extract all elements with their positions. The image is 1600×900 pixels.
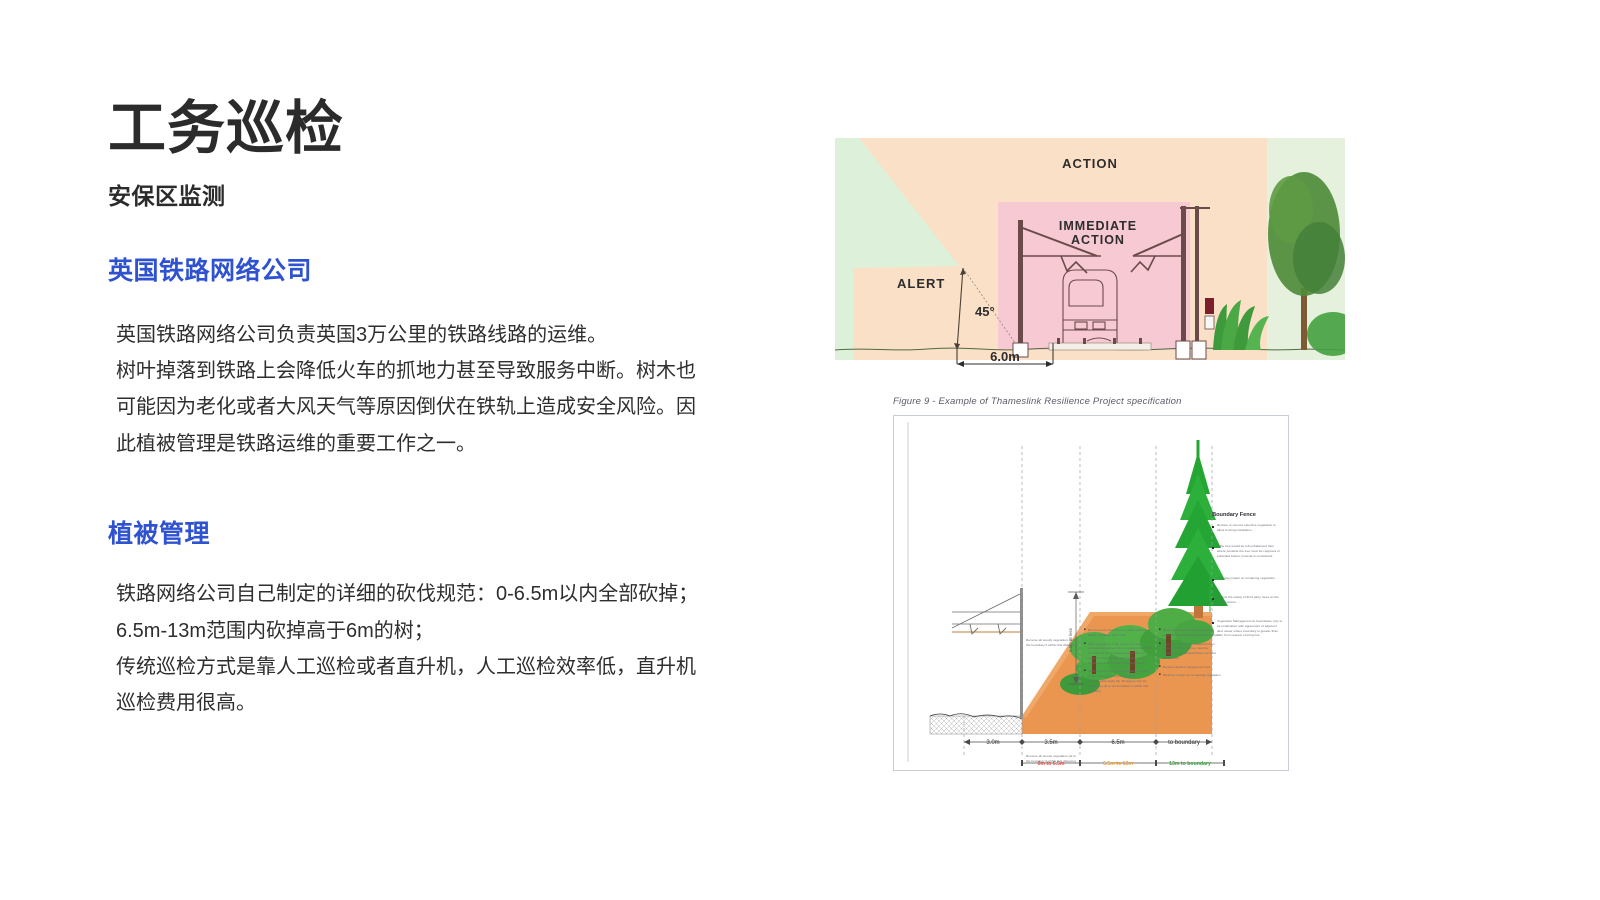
page-title: 工务巡检 <box>108 96 748 163</box>
paragraph-line: 传统巡检方式是靠人工巡检或者直升机，人工巡检效率低，直升机 <box>116 649 748 685</box>
paragraph-line: 此植被管理是铁路运维的重要工作之一。 <box>116 426 748 462</box>
figure-column: 45° <box>835 138 1355 771</box>
annotation-6-5m-bullet-3: (where there is a risk of vegetation gro… <box>1088 669 1152 693</box>
annotation-boundary-bullet-3: Remove dead or dangerous trees <box>1163 665 1211 670</box>
bullet-icon: ■ <box>1159 628 1161 638</box>
text-column: 工务巡检 安保区监测 英国铁路网络公司 英国铁路网络公司负责英国3万公里的铁路线… <box>108 96 748 722</box>
annotation-column-6-5m: ■ Remove trees that have a mature averag… <box>1084 628 1152 693</box>
section-heading-vegetation-management: 植被管理 <box>108 514 748 550</box>
paragraph-line: 树叶掉落到铁路上会降低火车的抓地力甚至导致服务中断。树木也 <box>116 353 748 389</box>
panel-bullet-3: Minimise impact on remaining vegetation. <box>1217 576 1283 581</box>
annotation-boundary-bullet-4: Minimise impact on remaining vegetation <box>1163 673 1221 678</box>
panel-bullet-4: Assess the safety of third party trees o… <box>1217 595 1283 605</box>
annotation-6-5m-bullet-1: Remove trees that have a mature average … <box>1088 628 1152 638</box>
panel-heading-boundary-fence: Boundary Fence <box>1212 512 1256 518</box>
paragraph-line: 6.5m-13m范围内砍掉高于6m的树； <box>116 613 748 649</box>
annotation-boundary-bullet-2: If the tree would be unbalanced then whe… <box>1163 642 1221 661</box>
section-heading-network-rail: 英国铁路网络公司 <box>108 251 748 287</box>
zone-label-immediate-action-line1: IMMEDIATE <box>1059 219 1137 233</box>
railway-clearance-diagram: 45° <box>835 138 1345 368</box>
dimension-label-3m: 3.0m <box>986 740 999 746</box>
bullet-icon: ■ <box>1084 628 1086 638</box>
dimension-label-3-5m: 3.5m <box>1044 740 1057 746</box>
dimension-label-6-5m: 6.5m <box>1111 740 1124 746</box>
annotation-column-3m: Remove all woody vegetation (at to the b… <box>1026 638 1078 648</box>
dimension-label-to-boundary: to boundary <box>1168 740 1200 746</box>
panel-bullet-1: Reduce or remove selective vegetation to… <box>1217 523 1283 533</box>
annotation-column-boundary: ■ Reduce or remove trees that have poten… <box>1159 628 1221 678</box>
figure-caption: Figure 9 - Example of Thameslink Resilie… <box>835 396 1355 407</box>
bullet-icon: ■ <box>1159 673 1161 678</box>
dimension-label-6m: 6.0m <box>990 349 1020 364</box>
annotation-6-5m-bullet-2: If the proportion of the crown of a tree… <box>1088 642 1152 666</box>
embankment-vegetation-spec-diagram: 6.0m or less 3.0m 3.5m 6.5m <box>893 415 1289 771</box>
bullet-icon: ■ <box>1084 642 1086 666</box>
zone-label-immediate-action-line2: ACTION <box>1071 233 1125 247</box>
bullet-icon: ■ <box>1084 669 1086 693</box>
paragraph-line: 可能因为老化或者大风天气等原因倒伏在铁轨上造成安全风险。因 <box>116 389 748 425</box>
bullet-icon: ■ <box>1159 665 1161 670</box>
paragraph-vegetation-management: 铁路网络公司自己制定的详细的砍伐规范：0-6.5m以内全部砍掉； 6.5m-13… <box>108 576 748 722</box>
paragraph-line: 英国铁路网络公司负责英国3万公里的铁路线路的运维。 <box>116 317 748 353</box>
zone-label-alert: ALERT <box>897 276 945 291</box>
zone-label-action: ACTION <box>1062 156 1118 171</box>
panel-bullet-2: If the tree would be left unbalanced the… <box>1217 544 1283 558</box>
panel-bullet-5: Vegetation Management at boundaries only… <box>1217 619 1283 638</box>
bullet-icon: ■ <box>1159 642 1161 661</box>
paragraph-line: 巡检费用很高。 <box>116 685 748 721</box>
angle-label-45: 45° <box>975 304 995 319</box>
page-subtitle: 安保区监测 <box>108 177 748 211</box>
paragraph-network-rail: 英国铁路网络公司负责英国3万公里的铁路线路的运维。 树叶掉落到铁路上会降低火车的… <box>108 317 748 463</box>
zone-label-13m-to-boundary: 13m to boundary <box>1169 761 1211 767</box>
note-3m-column: Remove all woody vegetation (at to the b… <box>1024 754 1078 764</box>
zone-label-6-5-to-13m: 6.5m to 13m <box>1103 761 1133 767</box>
annotation-boundary-bullet-1: Reduce or remove trees that have potenti… <box>1163 628 1221 638</box>
paragraph-line: 铁路网络公司自己制定的详细的砍伐规范：0-6.5m以内全部砍掉； <box>116 576 748 612</box>
annotation-3m-text: Remove all woody vegetation (at to the b… <box>1026 638 1076 647</box>
slide-canvas: 工务巡检 安保区监测 英国铁路网络公司 英国铁路网络公司负责英国3万公里的铁路线… <box>0 0 1600 900</box>
